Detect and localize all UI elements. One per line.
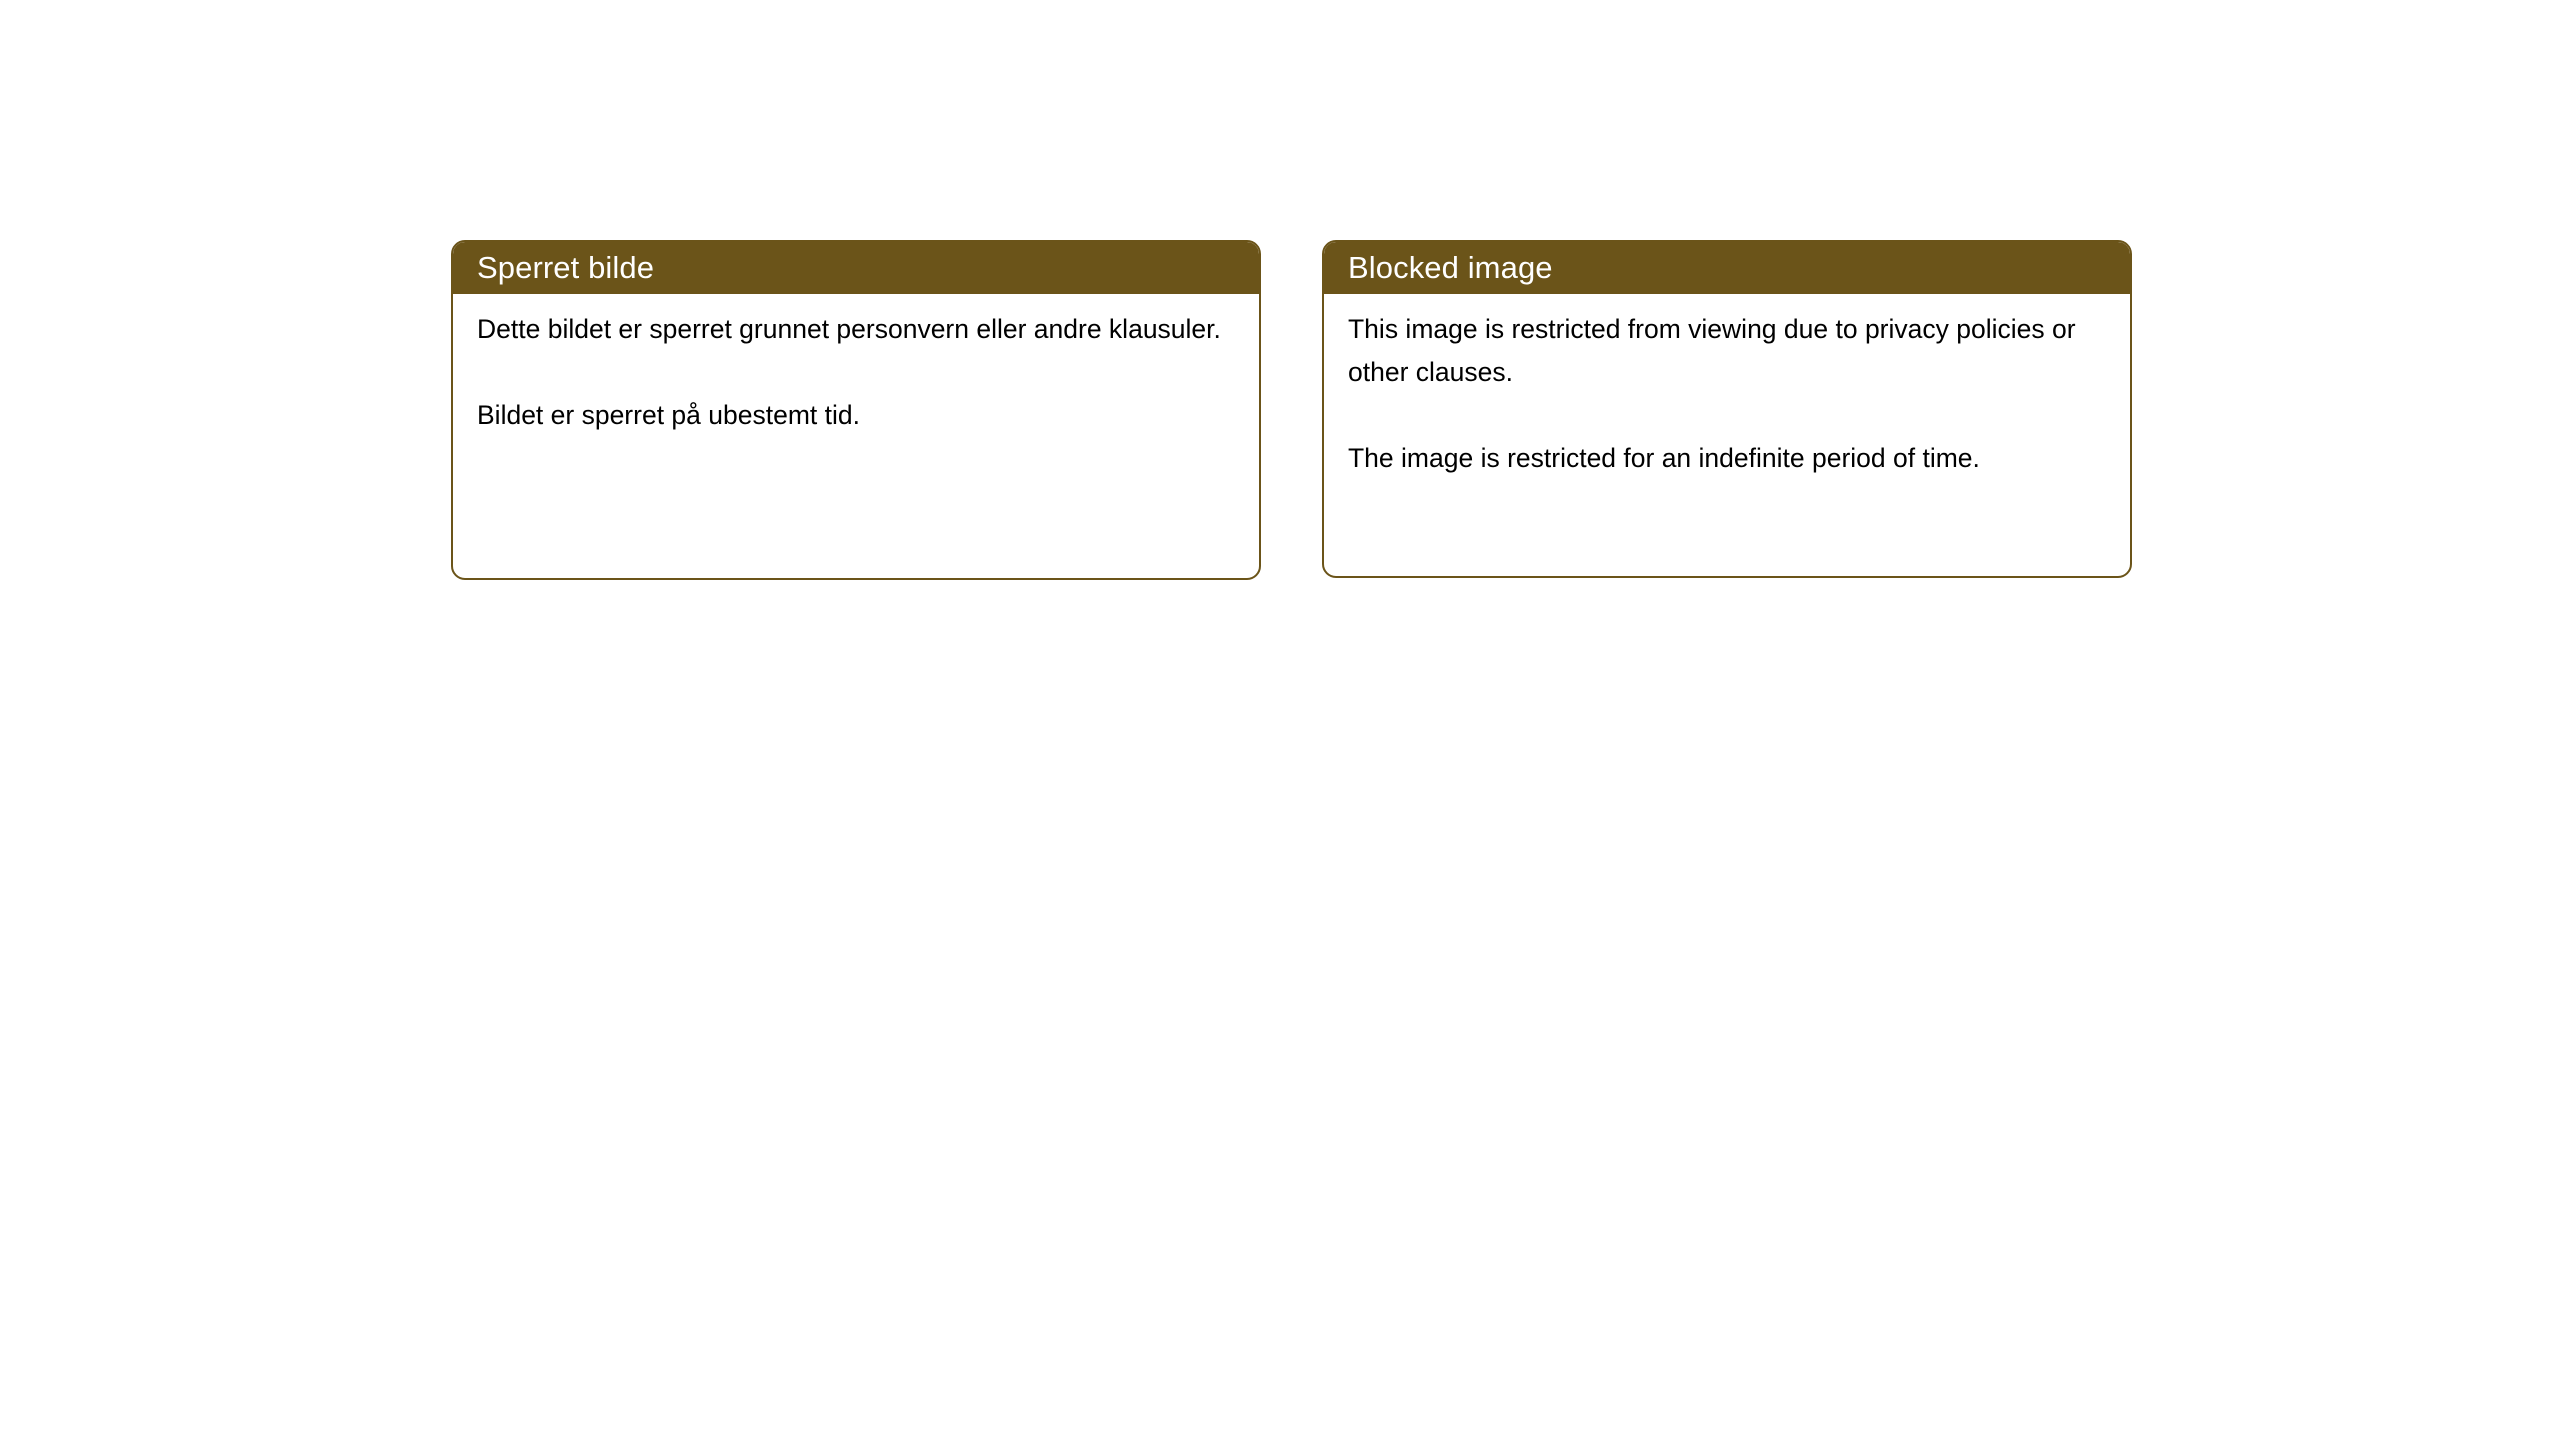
card-title-norwegian: Sperret bilde [477,251,654,285]
card-paragraph-privacy-english: This image is restricted from viewing du… [1348,308,2106,394]
card-paragraph-privacy-norwegian: Dette bildet er sperret grunnet personve… [477,308,1235,351]
card-paragraph-duration-english: The image is restricted for an indefinit… [1348,437,2106,480]
blocked-image-card-norwegian: Sperret bilde Dette bildet er sperret gr… [451,240,1261,580]
card-title-english: Blocked image [1348,251,1553,285]
card-body-norwegian: Dette bildet er sperret grunnet personve… [453,294,1259,437]
card-body-english: This image is restricted from viewing du… [1324,294,2130,480]
blocked-image-notice-area: Sperret bilde Dette bildet er sperret gr… [0,0,2560,1440]
card-paragraph-duration-norwegian: Bildet er sperret på ubestemt tid. [477,394,1235,437]
blocked-image-card-english: Blocked image This image is restricted f… [1322,240,2132,578]
card-header-english: Blocked image [1324,242,2130,294]
card-header-norwegian: Sperret bilde [453,242,1259,294]
